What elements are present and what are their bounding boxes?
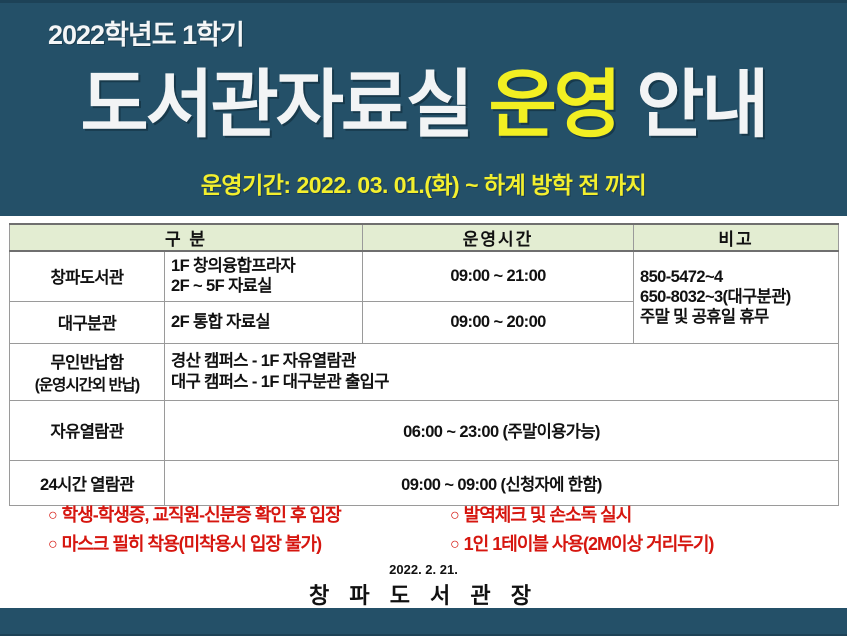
notice-text-left-1: 학생-학생증, 교직원-신분증 확인 후 입장	[62, 505, 341, 525]
dropbox-name-line-1: 무인반납함	[51, 354, 124, 372]
notice-row-2: ○마스크 필히 착용(미착용시 입장 불가) ○1인 1테이블 사용(2M이상 …	[0, 530, 847, 558]
page-title: 도서관자료실 운영 안내	[0, 68, 847, 142]
schedule-table-wrapper: 구 분 운영시간 비고 창파도서관 1F 창의융합프라자 2F ~ 5F 자료실…	[9, 223, 838, 506]
notice-list: ○학생-학생증, 교직원-신분증 확인 후 입장 ○발역체크 및 손소독 실시 …	[0, 501, 847, 561]
dropbox-name-line-2: (운영시간외 반납)	[16, 373, 158, 395]
row-hours-free-reading-room: 06:00 ~ 23:00 (주말이용가능)	[165, 400, 839, 460]
row-place-daegu-branch: 2F 통합 자료실	[165, 301, 363, 343]
place-line-2: 2F ~ 5F 자료실	[171, 277, 272, 295]
semester-eyebrow: 2022학년도 1학기	[48, 22, 244, 49]
col-header-category: 구 분	[10, 224, 363, 251]
note-holiday: 주말 및 공휴일 휴무	[640, 308, 769, 326]
note-phone-2: 650-8032~3(대구분관)	[640, 288, 791, 306]
table-row: 24시간 열람관 09:00 ~ 09:00 (신청자에 한함)	[10, 460, 839, 505]
col-header-hours: 운영시간	[363, 224, 634, 251]
table-head: 구 분 운영시간 비고	[10, 224, 839, 251]
title-part-yellow: 운영	[489, 63, 619, 146]
row-name-24h-reading-room: 24시간 열람관	[10, 460, 165, 505]
circle-marker-icon: ○	[450, 536, 459, 553]
schedule-table: 구 분 운영시간 비고 창파도서관 1F 창의융합프라자 2F ~ 5F 자료실…	[9, 223, 839, 506]
circle-marker-icon: ○	[48, 507, 57, 524]
notice-item-right-1: ○발역체크 및 손소독 실시	[450, 501, 631, 527]
title-part-white-2: 안내	[619, 63, 767, 146]
poster-root: 2022학년도 1학기 도서관자료실 운영 안내 운영기간: 2022. 03.…	[0, 0, 847, 636]
table-body: 창파도서관 1F 창의융합프라자 2F ~ 5F 자료실 09:00 ~ 21:…	[10, 251, 839, 505]
notice-item-right-2: ○1인 1테이블 사용(2M이상 거리두기)	[450, 530, 713, 556]
table-row: 창파도서관 1F 창의융합프라자 2F ~ 5F 자료실 09:00 ~ 21:…	[10, 251, 839, 301]
dropbox-place-line-1: 경산 캠퍼스 - 1F 자유열람관	[171, 352, 356, 370]
circle-marker-icon: ○	[48, 536, 57, 553]
place-line-1: 1F 창의융합프라자	[171, 257, 295, 275]
banner-top-edge	[0, 0, 847, 3]
note-phone-1: 850-5472~4	[640, 268, 723, 286]
issue-date: 2022. 2. 21.	[0, 562, 847, 577]
row-hours-24h-reading-room: 09:00 ~ 09:00 (신청자에 한함)	[165, 460, 839, 505]
table-row: 자유열람관 06:00 ~ 23:00 (주말이용가능)	[10, 400, 839, 460]
col-header-note: 비고	[634, 224, 839, 251]
row-name-free-reading-room: 자유열람관	[10, 400, 165, 460]
bottom-bar	[0, 608, 847, 636]
row-name-daegu-branch: 대구분관	[10, 301, 165, 343]
row-place-dropbox: 경산 캠퍼스 - 1F 자유열람관 대구 캠퍼스 - 1F 대구분관 출입구	[165, 343, 839, 400]
notice-item-left-2: ○마스크 필히 착용(미착용시 입장 불가)	[48, 530, 321, 556]
row-hours-changpa-library: 09:00 ~ 21:00	[363, 251, 634, 301]
row-name-changpa-library: 창파도서관	[10, 251, 165, 301]
notice-text-left-2: 마스크 필히 착용(미착용시 입장 불가)	[62, 534, 321, 554]
operating-period-subtitle: 운영기간: 2022. 03. 01.(화) ~ 하계 방학 전 까지	[0, 172, 847, 200]
title-part-white-1: 도서관자료실	[81, 63, 489, 146]
table-header-row: 구 분 운영시간 비고	[10, 224, 839, 251]
header-banner: 2022학년도 1학기 도서관자료실 운영 안내 운영기간: 2022. 03.…	[0, 0, 847, 216]
notice-text-right-1: 발역체크 및 손소독 실시	[464, 505, 632, 525]
notice-item-left-1: ○학생-학생증, 교직원-신분증 확인 후 입장	[48, 501, 341, 527]
circle-marker-icon: ○	[450, 507, 459, 524]
notice-text-right-2: 1인 1테이블 사용(2M이상 거리두기)	[464, 534, 714, 554]
signature-line: 창 파 도 서 관 장	[0, 578, 847, 610]
notice-row-1: ○학생-학생증, 교직원-신분증 확인 후 입장 ○발역체크 및 손소독 실시	[0, 501, 847, 529]
table-row: 무인반납함 (운영시간외 반납) 경산 캠퍼스 - 1F 자유열람관 대구 캠퍼…	[10, 343, 839, 400]
contact-note-cell: 850-5472~4 650-8032~3(대구분관) 주말 및 공휴일 휴무	[634, 251, 839, 343]
row-hours-daegu-branch: 09:00 ~ 20:00	[363, 301, 634, 343]
row-place-changpa-library: 1F 창의융합프라자 2F ~ 5F 자료실	[165, 251, 363, 301]
row-name-dropbox: 무인반납함 (운영시간외 반납)	[10, 343, 165, 400]
dropbox-place-line-2: 대구 캠퍼스 - 1F 대구분관 출입구	[171, 373, 389, 391]
